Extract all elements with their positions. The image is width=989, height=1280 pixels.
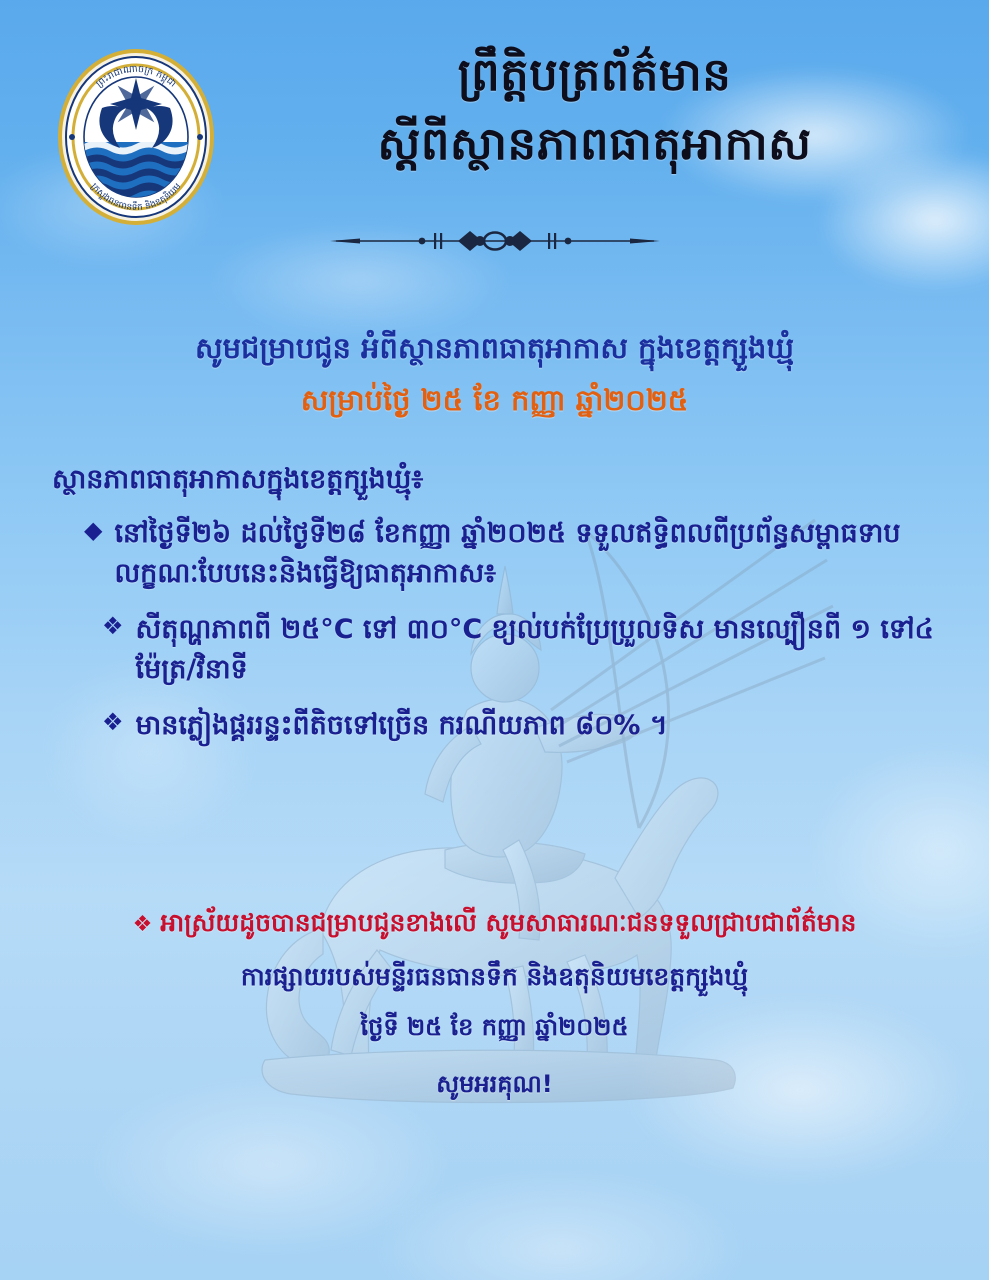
headline-main-text: សូមជម្រាបជូន អំពីស្ថានភាពធាតុអាកាស ក្នុង…: [0, 330, 989, 368]
footer-thanks-text: សូមអរគុណ!: [0, 1069, 989, 1104]
forecast-bullet-text: នៅថ្ងៃទី២៦ ដល់ថ្ងៃទី២៨ ខែកញ្ញា ឆ្នាំ២០២៥…: [114, 514, 949, 594]
poster-title-line-1: ព្រឹត្តិបត្រព័ត៌មាន: [240, 48, 949, 101]
floret-bullet-icon: ❖: [102, 706, 124, 740]
footer-date-text: ថ្ងៃទី ២៥ ខែ កញ្ញា ឆ្នាំ២០២៥: [0, 1012, 989, 1047]
diamond-bullet-icon: ◆: [84, 514, 102, 548]
footer-public-notice-text: អាស្រ័យដូចបានជម្រាបជូនខាងលើ សូមសាធារណៈជន…: [160, 908, 856, 937]
temperature-wind-text: សីតុណ្ហភាពពី ២៥°C ទៅ ៣០°C ខ្យល់បក់ប្រែប្…: [136, 610, 949, 690]
footer-issuer-text: ការផ្សាយរបស់មន្ទីរធនធានទឹក និងឧតុនិយមខេត…: [0, 959, 989, 994]
weather-bulletin-poster: ព្រះរាជាណាចក្រ កម្ពុជា ក្រសួងធនធានទឹក និ…: [0, 0, 989, 1280]
headline-block: សូមជម្រាបជូន អំពីស្ថានភាពធាតុអាកាស ក្នុង…: [0, 330, 989, 419]
ornamental-divider-icon: [0, 228, 989, 254]
poster-header: ព្រះរាជាណាចក្រ កម្ពុជា ក្រសួងធនធានទឹក និ…: [0, 0, 989, 275]
poster-title-line-2: ស្តីពីស្ថានភាពធាតុអាកាស: [240, 117, 949, 170]
forecast-bullet-item: ❖ មានភ្លៀងផ្គររន្ទះពីតិចទៅច្រើន ករណីយភាព…: [52, 706, 949, 746]
rain-probability-text: មានភ្លៀងផ្គររន្ទះពីតិចទៅច្រើន ករណីយភាព ៨…: [136, 706, 668, 746]
poster-footer: ❖អាស្រ័យដូចបានជម្រាបជូនខាងលើ សូមសាធារណៈជ…: [0, 905, 989, 1104]
floret-bullet-icon: ❖: [102, 610, 124, 644]
headline-date-text: សម្រាប់ថ្ងៃ ២៥ ខែ កញ្ញា ឆ្នាំ២០២៥: [0, 382, 989, 420]
poster-title-group: ព្រឹត្តិបត្រព័ត៌មាន ស្តីពីស្ថានភាពធាតុអា…: [240, 48, 949, 170]
body-intro-text: ស្ថានភាពធាតុអាកាសក្នុងខេត្តក្សួងឃ្មុំ៖: [52, 462, 949, 498]
forecast-bullet-item: ◆ នៅថ្ងៃទី២៦ ដល់ថ្ងៃទី២៨ ខែកញ្ញា ឆ្នាំ២០…: [52, 514, 949, 594]
forecast-bullet-item: ❖ សីតុណ្ហភាពពី ២៥°C ទៅ ៣០°C ខ្យល់បក់ប្រែ…: [52, 610, 949, 690]
ministry-emblem-icon: ព្រះរាជាណាចក្រ កម្ពុជា ក្រសួងធនធានទឹក និ…: [56, 48, 216, 226]
floret-bullet-icon: ❖: [133, 912, 153, 937]
body-block: ស្ថានភាពធាតុអាកាសក្នុងខេត្តក្សួងឃ្មុំ៖ ◆…: [52, 462, 949, 746]
footer-public-notice: ❖អាស្រ័យដូចបានជម្រាបជូនខាងលើ សូមសាធារណៈជ…: [0, 905, 989, 941]
